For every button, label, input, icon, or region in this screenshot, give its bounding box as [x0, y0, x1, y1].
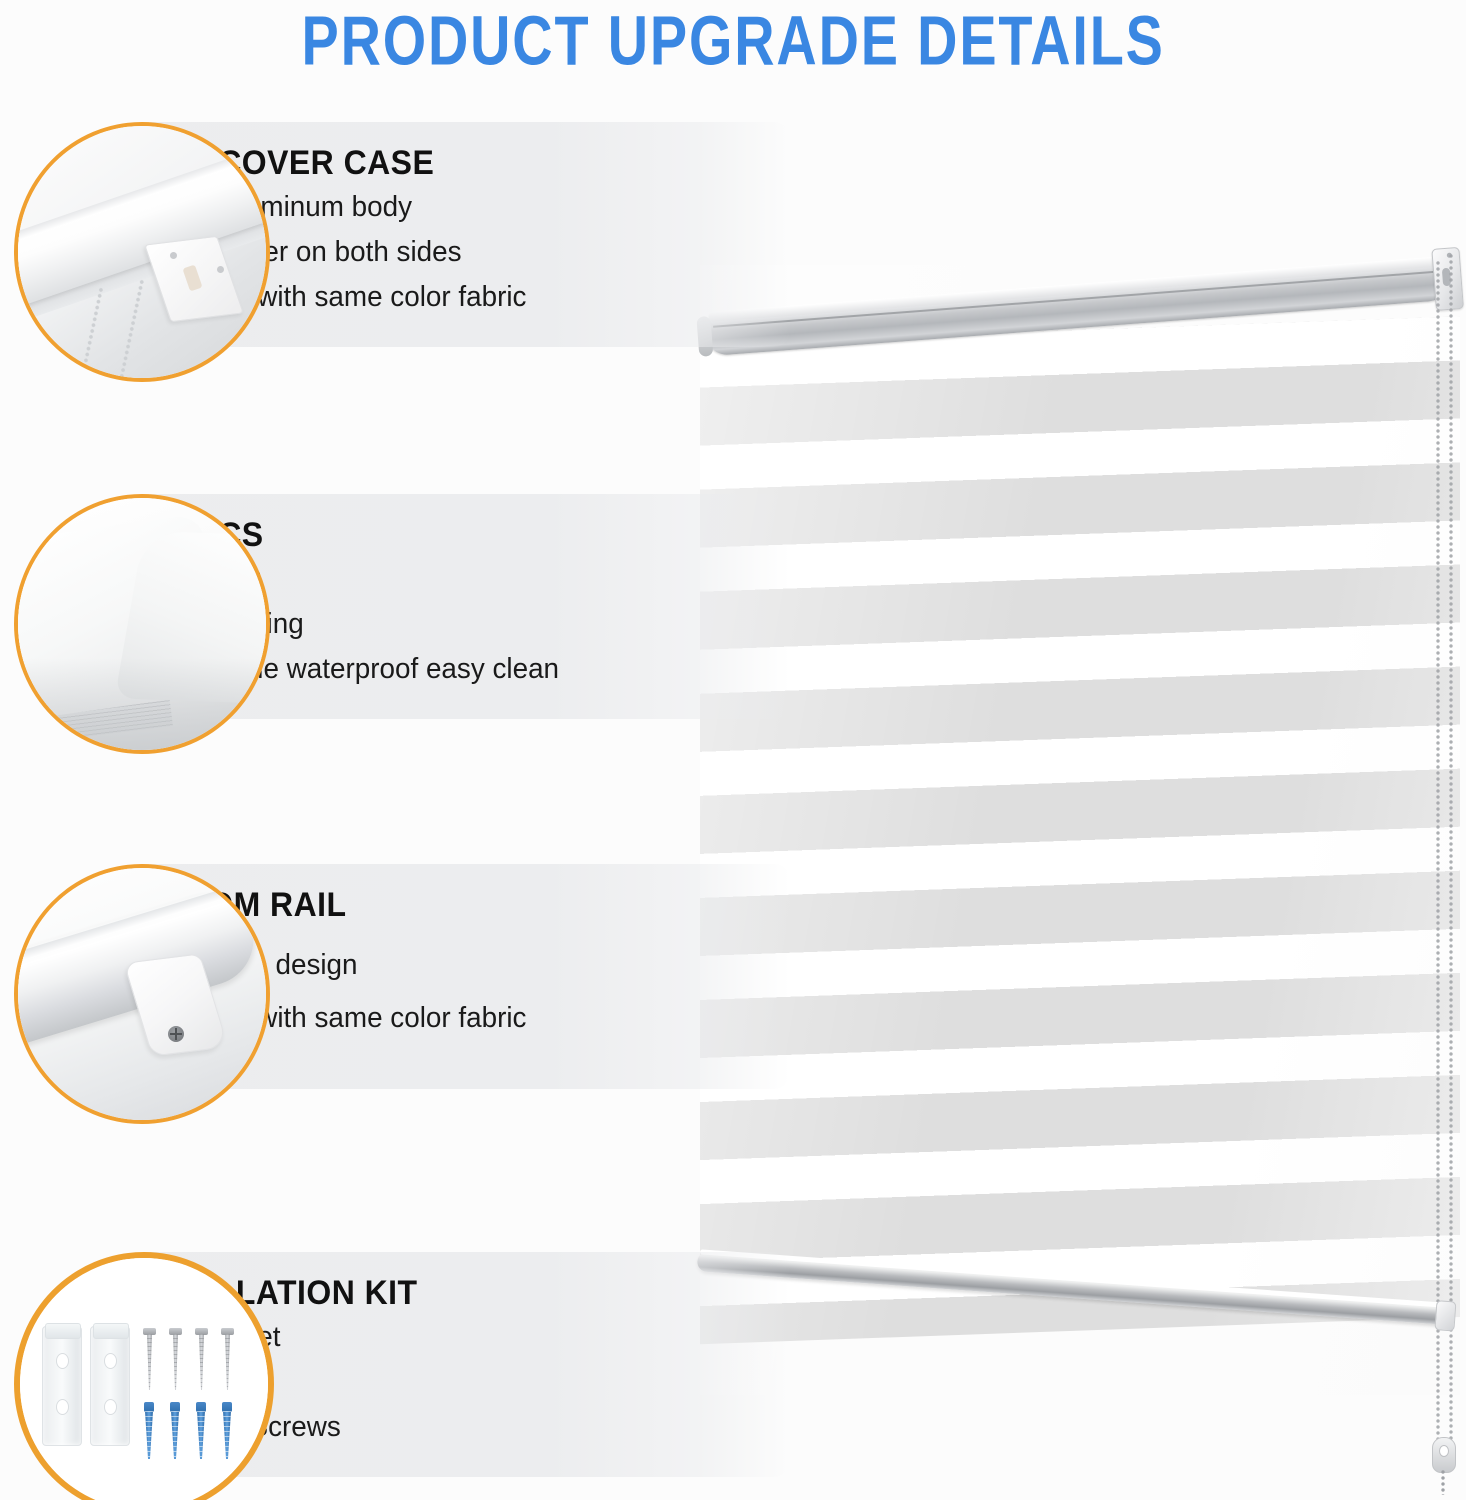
- l-bracket-icon: [90, 1326, 130, 1446]
- anchor-body: [171, 1411, 179, 1459]
- shade-fabric-area: [700, 265, 1460, 1395]
- bracket-hole-bottom: [56, 1399, 69, 1415]
- installation-kit-photo: [14, 1252, 274, 1500]
- dust-cover-case-photo: [14, 122, 270, 382]
- bracket-hole-bottom: [104, 1399, 117, 1415]
- anchor-head: [170, 1402, 180, 1412]
- fabrics-artwork: [18, 498, 266, 750]
- cassette-cap-screw-top: [170, 252, 177, 259]
- anchor-head: [196, 1402, 206, 1412]
- nylon-bolt-icon: [220, 1402, 234, 1464]
- fabric-shadow: [18, 658, 266, 750]
- bead-chain-left: [1436, 260, 1440, 1445]
- screw-icon: [146, 1328, 153, 1390]
- bracket-lip: [93, 1323, 129, 1339]
- fabrics-photo: [14, 494, 270, 754]
- infographic-page: PRODUCT UPGRADE DETAILS DUST COVER CASE …: [0, 0, 1466, 1500]
- anchor-body: [145, 1411, 153, 1459]
- nylon-bolt-icon: [142, 1402, 156, 1464]
- screw-shaft: [225, 1334, 230, 1390]
- anchor-head: [144, 1402, 154, 1412]
- screw-shaft: [199, 1334, 204, 1390]
- screw-icon: [198, 1328, 205, 1390]
- bracket-lip: [45, 1323, 81, 1339]
- bead-chain-right: [1449, 253, 1453, 1448]
- anchor-body: [223, 1411, 231, 1459]
- anchor-head: [222, 1402, 232, 1412]
- bottom-rail-artwork: [18, 868, 266, 1120]
- page-title: PRODUCT UPGRADE DETAILS: [301, 0, 1164, 80]
- screw-shaft: [173, 1334, 178, 1390]
- rail-cap-screw: [168, 1026, 184, 1042]
- zebra-striped-fabric: [700, 315, 1460, 1344]
- bottom-rail-end-cap: [1434, 1300, 1456, 1331]
- cassette-bead-chain-a: [80, 287, 103, 378]
- installation-kit-artwork: [20, 1258, 268, 1500]
- bracket-hole-top: [56, 1353, 69, 1369]
- screw-head: [221, 1328, 234, 1335]
- screw-head: [195, 1328, 208, 1335]
- nylon-bolt-icon: [168, 1402, 182, 1464]
- cassette-bead-chain-b: [120, 279, 145, 378]
- bead-chain-tail: [1441, 1469, 1445, 1495]
- nylon-bolt-icon: [194, 1402, 208, 1464]
- bracket-hole-top: [104, 1353, 117, 1369]
- page-title-bar: PRODUCT UPGRADE DETAILS: [0, 0, 1466, 80]
- screw-icon: [224, 1328, 231, 1390]
- dust-cover-case-artwork: [18, 126, 266, 378]
- product-image-zebra-blind: [690, 205, 1466, 1345]
- screw-shaft: [147, 1334, 152, 1390]
- screw-icon: [172, 1328, 179, 1390]
- chain-tensioner-hole: [1439, 1445, 1449, 1457]
- screw-head: [169, 1328, 182, 1335]
- anchor-body: [197, 1411, 205, 1459]
- hardware-row: [38, 1320, 256, 1450]
- bottom-rail-photo: [14, 864, 270, 1124]
- screw-head: [143, 1328, 156, 1335]
- l-bracket-icon: [42, 1326, 82, 1446]
- cassette-cap-screw-bottom: [217, 266, 224, 273]
